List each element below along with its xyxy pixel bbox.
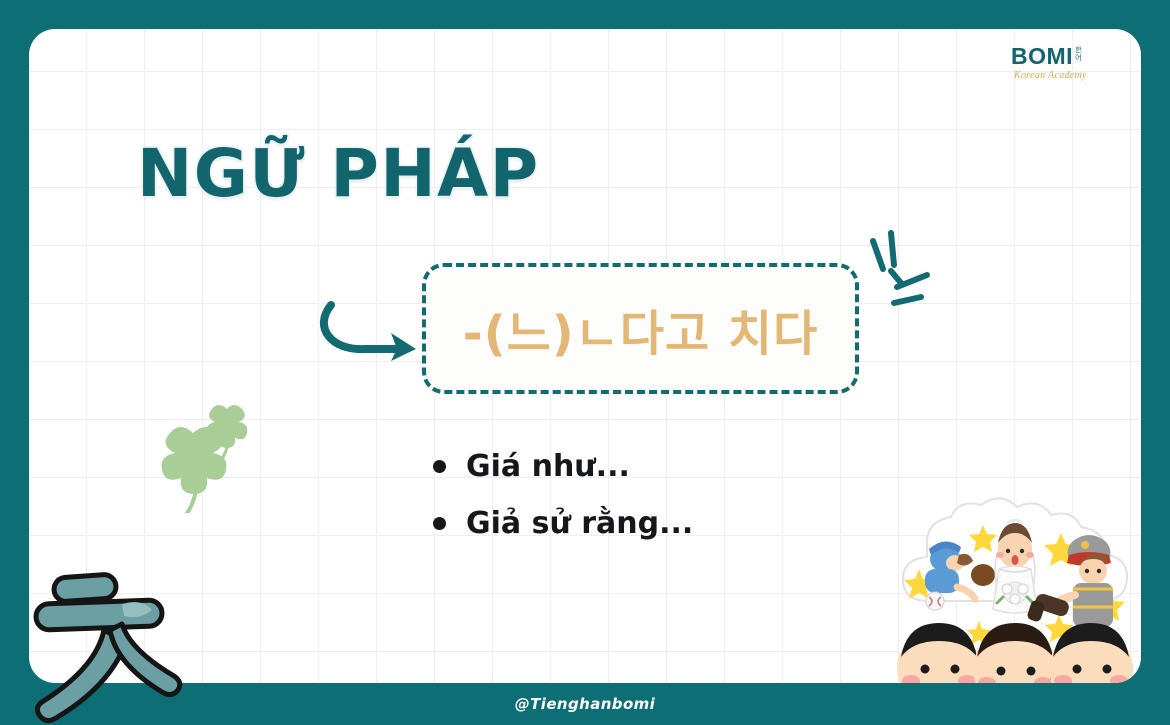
bullet-dot-icon [433, 460, 446, 473]
sparkle-strokes-icon [861, 225, 941, 317]
logo-wordmark-row: BOMI 한 어 [1011, 45, 1082, 68]
curved-arrow-icon [317, 291, 427, 361]
meaning-list: Giá như... Giả sử rằng... [433, 449, 693, 541]
list-item-label: Giá như... [466, 449, 630, 484]
bomi-logo: BOMI 한 어 Korean Academy [1011, 45, 1123, 103]
list-item-label: Giả sử rằng... [466, 506, 693, 541]
logo-wordmark: BOMI [1011, 45, 1073, 68]
logo-korean-marks: 한 어 [1075, 47, 1081, 62]
logo-korean-mark-2: 어 [1075, 55, 1081, 62]
child-left [897, 623, 981, 683]
clover-decoration-icon [151, 391, 273, 513]
logo-tagline: Korean Academy [1014, 71, 1087, 81]
grammar-pattern-box: -(느)ㄴ다고 치다 [422, 263, 859, 394]
social-handle: @Tienghanbomi [515, 695, 655, 713]
daydreaming-children-illustration [887, 497, 1141, 683]
list-item: Giả sử rằng... [433, 506, 693, 541]
grammar-pattern-text: -(느)ㄴ다고 치다 [463, 294, 818, 364]
list-item: Giá như... [433, 449, 693, 484]
slide-root: BOMI 한 어 Korean Academy NGỮ PHÁP [0, 0, 1170, 725]
footer-banner: @Tienghanbomi [0, 683, 1170, 725]
bullet-dot-icon [433, 517, 446, 530]
logo-korean-mark-1: 한 [1075, 47, 1081, 54]
page-title: NGỮ PHÁP [137, 135, 540, 212]
